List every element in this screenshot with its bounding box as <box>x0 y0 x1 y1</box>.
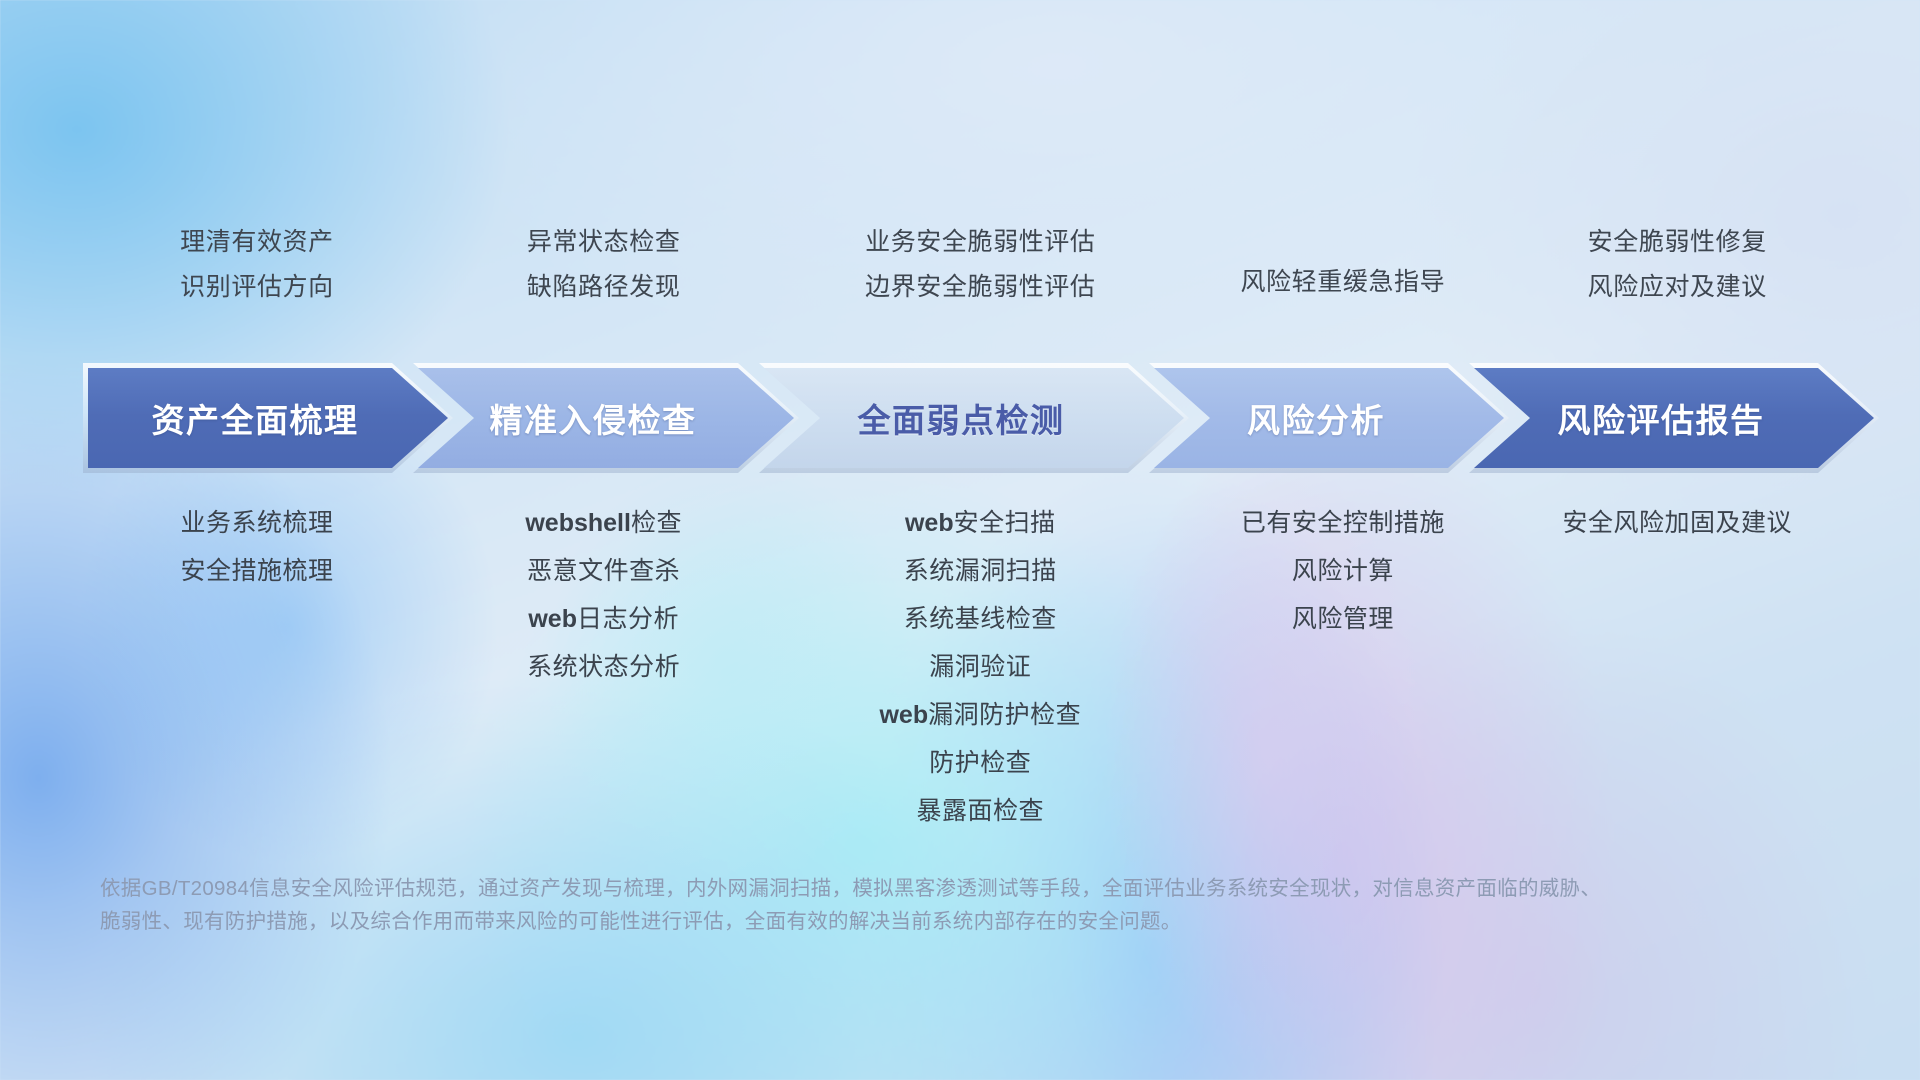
detail-list-item-text: 漏洞防护检查 <box>928 701 1081 729</box>
detail-list-item: 风险计算 <box>1292 556 1394 586</box>
detail-list-item: 安全措施梳理 <box>180 556 333 586</box>
top-caption-line: 异常状态检查 <box>527 228 681 257</box>
process-step-arrow[interactable]: 风险评估报告 <box>1474 368 1874 468</box>
process-step-arrow[interactable]: 资产全面梳理 <box>88 368 448 468</box>
top-caption-line: 业务安全脆弱性评估 <box>865 228 1095 257</box>
detail-list-item-text: 恶意文件查杀 <box>527 557 680 585</box>
detail-list-item-text: 业务系统梳理 <box>180 509 333 537</box>
top-caption-line: 理清有效资产 <box>180 228 334 257</box>
detail-list-item-text: 系统漏洞扫描 <box>904 557 1057 585</box>
detail-list-item: web日志分析 <box>528 604 679 634</box>
top-caption-line: 风险应对及建议 <box>1588 273 1767 302</box>
detail-list-item-text: 系统状态分析 <box>527 653 680 681</box>
bottom-detail-lists-row: 业务系统梳理安全措施梳理webshell检查恶意文件查杀web日志分析系统状态分… <box>88 508 1848 826</box>
detail-list-item-text: 漏洞验证 <box>929 653 1031 681</box>
detail-list-item-text: 日志分析 <box>577 605 679 633</box>
process-step-arrow[interactable]: 风险分析 <box>1154 368 1504 468</box>
detail-list-item: 系统状态分析 <box>527 652 680 682</box>
detail-list-item-prefix: web <box>528 605 577 633</box>
process-arrow-band: 资产全面梳理精准入侵检查全面弱点检测风险分析风险评估报告 <box>88 368 1874 468</box>
detail-list-item-text: 已有安全控制措施 <box>1241 509 1445 537</box>
detail-list-item: web安全扫描 <box>905 508 1056 538</box>
detail-list-item-text: 防护检查 <box>929 749 1031 777</box>
top-caption-column: 安全脆弱性修复风险应对及建议 <box>1507 228 1848 302</box>
process-step-label: 资产全面梳理 <box>152 394 385 442</box>
detail-list-item: webshell检查 <box>525 508 682 538</box>
detail-list-item-text: 安全措施梳理 <box>180 557 333 585</box>
top-caption-column: 业务安全脆弱性评估边界安全脆弱性评估 <box>781 228 1179 302</box>
detail-list-item: 漏洞验证 <box>929 652 1031 682</box>
detail-list-item-text: 安全风险加固及建议 <box>1562 509 1792 537</box>
process-step-arrow[interactable]: 精准入侵检查 <box>418 368 794 468</box>
detail-list-item-text: 风险计算 <box>1292 557 1394 585</box>
detail-list-column: web安全扫描系统漏洞扫描系统基线检查漏洞验证web漏洞防护检查防护检查暴露面检… <box>781 508 1179 826</box>
detail-list-item-prefix: webshell <box>525 509 631 537</box>
detail-list-item: 系统漏洞扫描 <box>904 556 1057 586</box>
detail-list-item: 系统基线检查 <box>904 604 1057 634</box>
detail-list-column: 安全风险加固及建议 <box>1507 508 1848 538</box>
top-caption-line: 边界安全脆弱性评估 <box>865 273 1095 302</box>
top-caption-line: 缺陷路径发现 <box>527 273 681 302</box>
detail-list-item-text: 风险管理 <box>1292 605 1394 633</box>
detail-list-item: 安全风险加固及建议 <box>1562 508 1792 538</box>
process-step-label: 全面弱点检测 <box>858 394 1091 442</box>
process-step-label: 风险评估报告 <box>1558 394 1791 442</box>
detail-list-item: web漏洞防护检查 <box>879 700 1081 730</box>
detail-list-item-text: 系统基线检查 <box>904 605 1057 633</box>
process-step-label: 精准入侵检查 <box>490 394 723 442</box>
top-caption-column: 风险轻重缓急指导 <box>1179 228 1506 302</box>
detail-list-item: 暴露面检查 <box>917 796 1045 826</box>
detail-list-item: 已有安全控制措施 <box>1241 508 1445 538</box>
detail-list-column: 已有安全控制措施风险计算风险管理 <box>1179 508 1506 634</box>
detail-list-column: 业务系统梳理安全措施梳理 <box>88 508 426 586</box>
slide-canvas: 理清有效资产识别评估方向异常状态检查缺陷路径发现业务安全脆弱性评估边界安全脆弱性… <box>0 0 1920 1080</box>
detail-list-column: webshell检查恶意文件查杀web日志分析系统状态分析 <box>426 508 782 682</box>
process-step-arrow[interactable]: 全面弱点检测 <box>764 368 1184 468</box>
detail-list-item: 业务系统梳理 <box>180 508 333 538</box>
detail-list-item: 恶意文件查杀 <box>527 556 680 586</box>
process-step-label: 风险分析 <box>1247 394 1411 442</box>
detail-list-item-prefix: web <box>905 509 954 537</box>
detail-list-item: 防护检查 <box>929 748 1031 778</box>
detail-list-item-text: 暴露面检查 <box>917 797 1045 825</box>
top-caption-line: 识别评估方向 <box>180 273 334 302</box>
top-captions-row: 理清有效资产识别评估方向异常状态检查缺陷路径发现业务安全脆弱性评估边界安全脆弱性… <box>88 228 1848 302</box>
top-caption-line: 风险轻重缓急指导 <box>1240 268 1445 297</box>
detail-list-item: 风险管理 <box>1292 604 1394 634</box>
top-caption-line: 安全脆弱性修复 <box>1588 228 1767 257</box>
detail-list-item-text: 安全扫描 <box>954 509 1056 537</box>
detail-list-item-prefix: web <box>879 701 928 729</box>
top-caption-column: 异常状态检查缺陷路径发现 <box>426 228 782 302</box>
footer-description: 依据GB/T20984信息安全风险评估规范，通过资产发现与梳理，内外网漏洞扫描，… <box>100 872 1620 938</box>
top-caption-column: 理清有效资产识别评估方向 <box>88 228 426 302</box>
detail-list-item-text: 检查 <box>631 509 682 537</box>
